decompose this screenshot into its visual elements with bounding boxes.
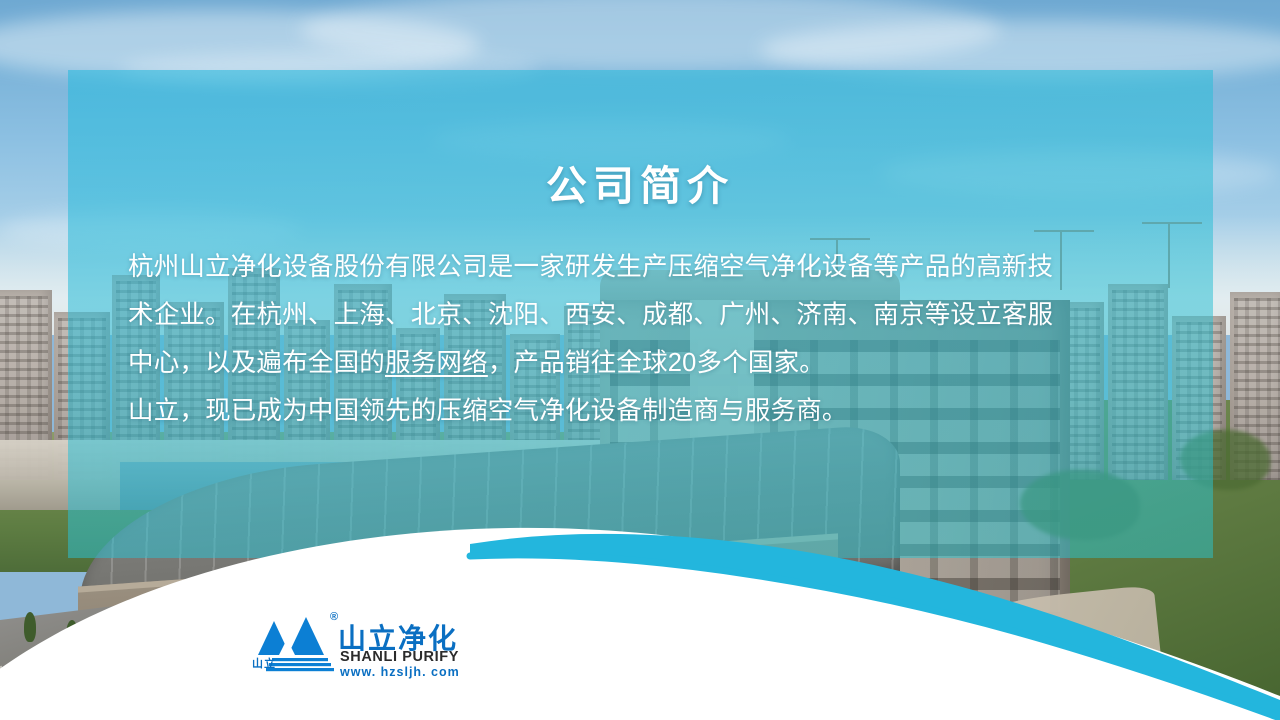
logo-company-name-en: SHANLI PURIFY [340,649,459,665]
registered-trademark-icon: ® [330,611,338,623]
tree [24,612,36,642]
logo-website-url: www. hzsljh. com [340,665,460,679]
page-title: 公司简介 [0,152,1280,212]
description-line-3: 中心，以及遍布全国的服务网络，产品销往全球20多个国家。 [128,339,1106,387]
logo-mark-label: 山立 [252,655,276,671]
description-line-2: 术企业。在杭州、上海、北京、沈阳、西安、成都、广州、济南、南京等设立客服 [128,291,1106,339]
underlined-phrase: 服务网络 [385,349,488,377]
vehicle [96,660,130,675]
tree [66,620,78,650]
description-line-4: 山立，现已成为中国领先的压缩空气净化设备制造商与服务商。 [128,387,1106,435]
vehicle [38,652,84,672]
presentation-slide: 公司简介 杭州山立净化设备股份有限公司是一家研发生产压缩空气净化设备等产品的高新… [0,0,1280,720]
tree [108,628,120,658]
description-line-1: 杭州山立净化设备股份有限公司是一家研发生产压缩空气净化设备等产品的高新技 [128,243,1106,291]
tree [150,600,162,630]
company-logo: ® 山立 山立净化 SHANLI PURIFY www. hzsljh. com [252,607,464,683]
company-description: 杭州山立净化设备股份有限公司是一家研发生产压缩空气净化设备等产品的高新技 术企业… [128,243,1106,435]
